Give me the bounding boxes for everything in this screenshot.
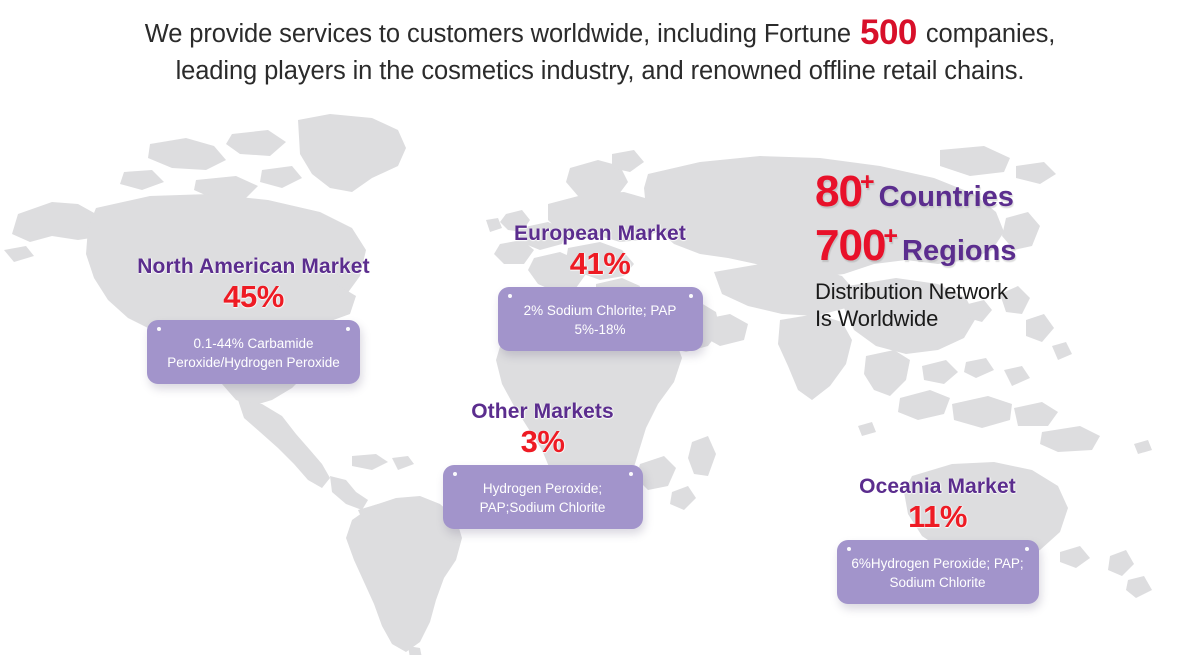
market-percentage: 45% — [96, 279, 411, 315]
market-percentage: 11% — [815, 499, 1060, 535]
card-line-2: PAP;Sodium Chlorite — [453, 498, 633, 517]
card-dot-right-icon — [1025, 547, 1029, 551]
infographic-canvas: We provide services to customers worldwi… — [0, 0, 1200, 655]
card-dot-right-icon — [689, 294, 693, 298]
card-dot-left-icon — [508, 294, 512, 298]
stat-regions: 700+Regions — [815, 224, 1115, 268]
card-dot-left-icon — [157, 327, 161, 331]
caption-line-2: Is Worldwide — [815, 305, 1115, 332]
card-dot-left-icon — [847, 547, 851, 551]
regions-label: Regions — [902, 235, 1016, 267]
card-line-1: Hydrogen Peroxide; — [453, 479, 633, 498]
market-title: European Market — [470, 222, 730, 246]
countries-number: 80 — [815, 167, 862, 216]
stat-countries: 80+Countries — [815, 170, 1115, 214]
card-line-2: Sodium Chlorite — [847, 573, 1029, 592]
market-product-card: 6%Hydrogen Peroxide; PAP; Sodium Chlorit… — [837, 540, 1039, 604]
card-line-1: 6%Hydrogen Peroxide; PAP; — [847, 554, 1029, 573]
market-other: Other Markets 3% Hydrogen Peroxide; PAP;… — [425, 400, 660, 529]
market-north-america: North American Market 45% 0.1-44% Carbam… — [96, 255, 411, 384]
headline-text-after: companies, — [919, 20, 1055, 48]
market-percentage: 41% — [470, 246, 730, 282]
market-product-card: 0.1-44% Carbamide Peroxide/Hydrogen Pero… — [147, 320, 360, 384]
market-title: Other Markets — [425, 400, 660, 424]
distribution-caption: Distribution Network Is Worldwide — [815, 278, 1115, 332]
headline: We provide services to customers worldwi… — [0, 14, 1200, 90]
card-line-2: Peroxide/Hydrogen Peroxide — [157, 353, 350, 372]
headline-text-before: We provide services to customers worldwi… — [145, 20, 858, 48]
countries-plus-sign: + — [860, 168, 875, 196]
card-line-1: 2% Sodium Chlorite; PAP — [508, 301, 693, 320]
market-europe: European Market 41% 2% Sodium Chlorite; … — [470, 222, 730, 351]
card-line-1: 0.1-44% Carbamide — [157, 334, 350, 353]
headline-line-2: leading players in the cosmetics industr… — [0, 53, 1200, 90]
countries-label: Countries — [879, 181, 1014, 213]
distribution-stats: 80+Countries 700+Regions Distribution Ne… — [815, 170, 1115, 332]
headline-line-1: We provide services to customers worldwi… — [0, 14, 1200, 53]
market-percentage: 3% — [425, 424, 660, 460]
card-dot-right-icon — [346, 327, 350, 331]
card-dot-left-icon — [453, 472, 457, 476]
market-product-card: 2% Sodium Chlorite; PAP 5%-18% — [498, 287, 703, 351]
regions-plus-sign: + — [883, 222, 898, 250]
regions-number: 700 — [815, 221, 885, 270]
market-title: North American Market — [96, 255, 411, 279]
market-oceania: Oceania Market 11% 6%Hydrogen Peroxide; … — [815, 475, 1060, 604]
market-product-card: Hydrogen Peroxide; PAP;Sodium Chlorite — [443, 465, 643, 529]
card-dot-right-icon — [629, 472, 633, 476]
card-line-2: 5%-18% — [508, 320, 693, 339]
caption-line-1: Distribution Network — [815, 278, 1115, 305]
market-title: Oceania Market — [815, 475, 1060, 499]
fortune-500-number: 500 — [858, 13, 919, 52]
